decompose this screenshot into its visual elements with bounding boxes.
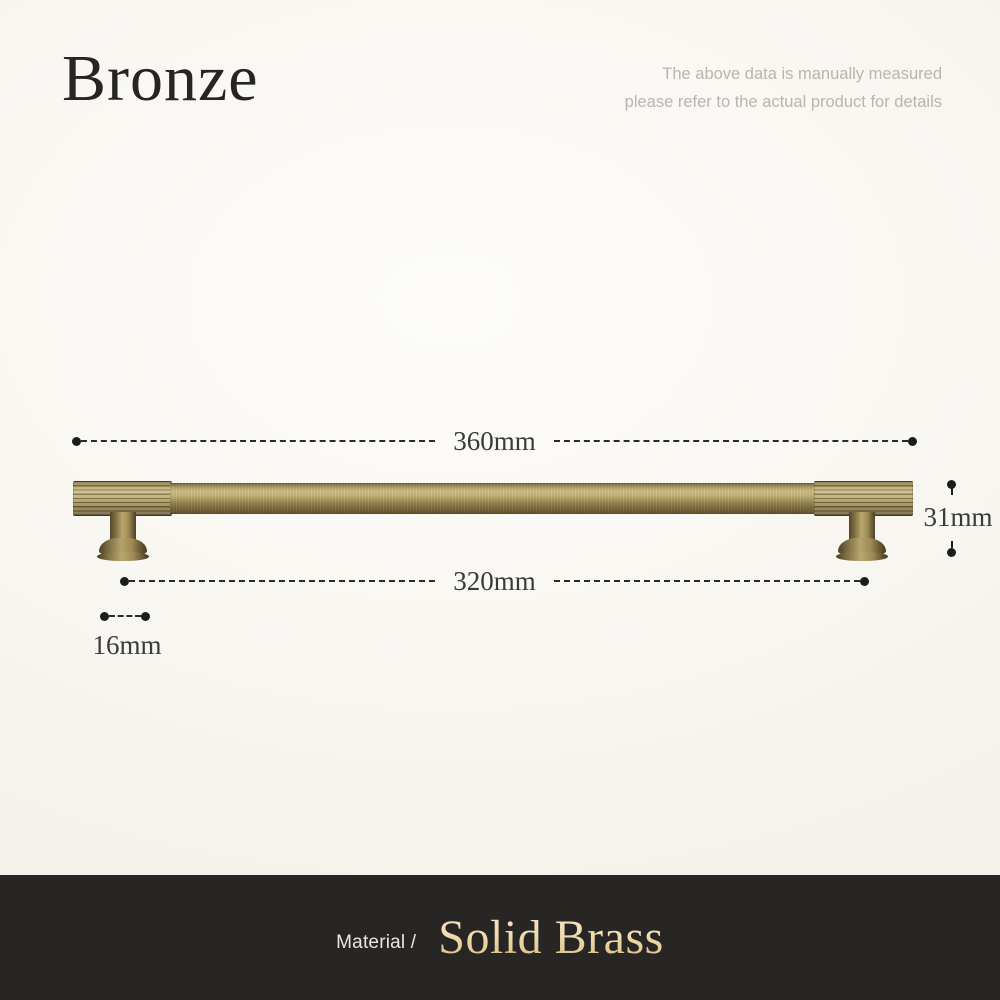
dimension-endpoint-dot-icon (860, 577, 869, 586)
handle-fluted-cap-right (814, 481, 913, 516)
handle-post-right (849, 512, 875, 548)
handle-foot-right (838, 538, 886, 556)
dimension-label-projection-height: 31mm (912, 502, 1000, 533)
dimension-label-base-diameter: 16mm (82, 630, 172, 661)
dimension-leader-line (951, 488, 953, 495)
dimension-leader-line (554, 580, 860, 582)
dimension-center-to-center: 320mm (120, 568, 869, 594)
dimension-endpoint-dot-icon (908, 437, 917, 446)
dimension-endpoint-dot-icon (141, 612, 150, 621)
dimension-overall-length: 360mm (72, 428, 917, 454)
page-title: Bronze (62, 46, 259, 112)
dimension-leader-line (951, 541, 953, 548)
material-value: Solid Brass (438, 910, 664, 965)
dimension-leader-line (129, 580, 435, 582)
product-spec-page: Bronze The above data is manually measur… (0, 0, 1000, 1000)
dimension-leader-line (554, 440, 908, 442)
handle-bar (170, 483, 818, 514)
dimension-endpoint-dot-icon (947, 548, 956, 557)
disclaimer-note: The above data is manually measured plea… (542, 60, 942, 117)
dimension-endpoint-dot-icon (120, 577, 129, 586)
handle-fluted-cap-left (73, 481, 172, 516)
dimension-projection-height: 31mm (912, 474, 998, 566)
dimension-endpoint-dot-icon (100, 612, 109, 621)
handle-foot-plate-left (97, 552, 149, 561)
disclaimer-line-2: please refer to the actual product for d… (542, 88, 942, 116)
handle-post-left (110, 512, 136, 548)
material-banner: Material / Solid Brass (0, 875, 1000, 1000)
dimension-label-center-to-center: 320mm (435, 566, 554, 597)
dimension-base-diameter: 16mm (100, 610, 150, 622)
handle-foot-left (99, 538, 147, 556)
disclaimer-line-1: The above data is manually measured (542, 60, 942, 88)
product-illustration (0, 0, 1000, 1000)
dimension-leader-line (81, 440, 435, 442)
dimension-label-overall-length: 360mm (435, 426, 554, 457)
dimension-endpoint-dot-icon (72, 437, 81, 446)
handle-foot-plate-right (836, 552, 888, 561)
material-label: Material / (336, 932, 416, 954)
dimension-leader-line (109, 615, 141, 617)
